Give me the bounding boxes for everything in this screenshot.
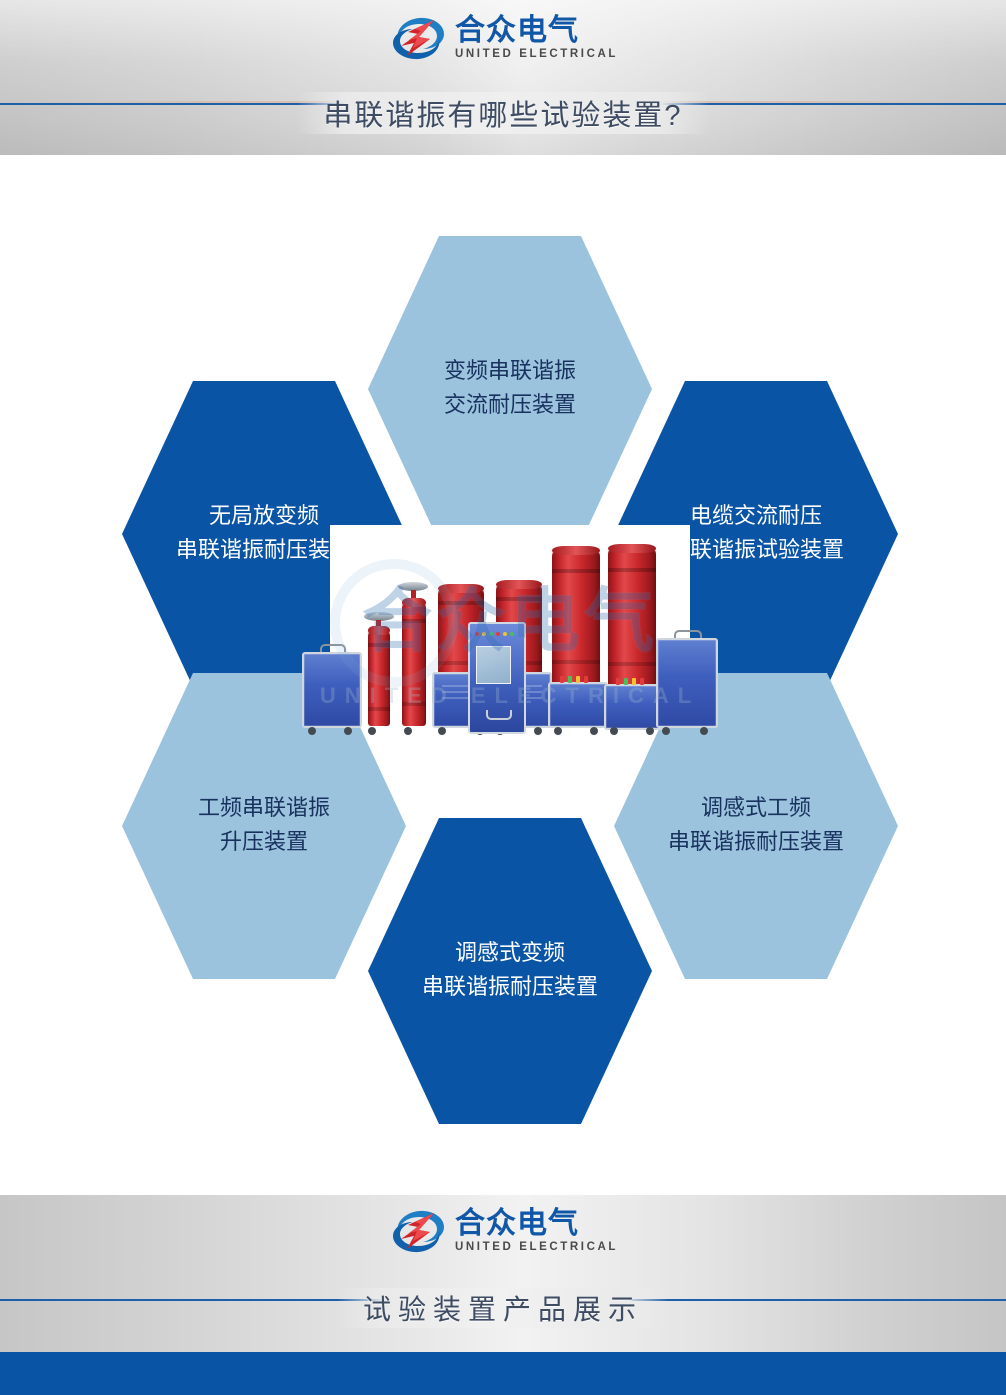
brand-name-en: UNITED ELECTRICAL bbox=[455, 49, 618, 61]
caster-wheel-icon bbox=[662, 727, 670, 735]
hexagon-diagram: 变频串联谐振 交流耐压装置 无局放变频 串联谐振耐压装置 电缆交流耐压 串联谐振… bbox=[0, 155, 1006, 1195]
reactor-body bbox=[402, 602, 426, 726]
caster-wheel-icon bbox=[554, 727, 562, 735]
equipment-control-console bbox=[468, 622, 522, 730]
caster-wheel-icon bbox=[404, 727, 412, 735]
indicator-leds bbox=[475, 632, 514, 636]
brand-logo-header[interactable]: 合众电气 UNITED ELECTRICAL bbox=[390, 12, 618, 64]
console-handle-icon bbox=[486, 710, 512, 720]
reactor-trolley bbox=[604, 684, 664, 730]
console-body bbox=[468, 622, 526, 734]
caster-wheel-icon bbox=[344, 727, 352, 735]
terminal-strip bbox=[560, 676, 588, 683]
brand-name-cn: 合众电气 bbox=[455, 16, 618, 46]
brand-name-cn: 合众电气 bbox=[455, 1209, 618, 1239]
brand-wordmark: 合众电气 UNITED ELECTRICAL bbox=[455, 1209, 618, 1254]
equipment-case-1 bbox=[302, 652, 358, 730]
footer-title-text: 试验装置产品展示 bbox=[337, 1288, 669, 1328]
page-footer: 合众电气 UNITED ELECTRICAL 试验装置产品展示 bbox=[0, 1195, 1006, 1352]
reactor-cap bbox=[438, 584, 484, 593]
reactor-body bbox=[552, 550, 600, 686]
footer-title: 试验装置产品展示 bbox=[0, 1288, 1006, 1328]
equipment-reactor-tall-2 bbox=[604, 548, 660, 730]
equipment-reactor-2 bbox=[396, 582, 432, 730]
hexagon-bottom-line1: 调感式变频 bbox=[455, 937, 565, 971]
reactor-cap bbox=[608, 544, 656, 553]
caster-wheel-icon bbox=[590, 727, 598, 735]
caster-wheel-icon bbox=[368, 727, 376, 735]
caster-wheel-icon bbox=[438, 727, 446, 735]
hexagon-lower-right-line1: 调感式工频 bbox=[701, 792, 811, 826]
case-body bbox=[656, 638, 718, 728]
brand-wordmark: 合众电气 UNITED ELECTRICAL bbox=[455, 16, 618, 61]
lightning-swoosh-logo-icon bbox=[390, 1205, 446, 1257]
equipment-case-2 bbox=[656, 638, 714, 730]
hexagon-lower-left-line2: 升压装置 bbox=[220, 826, 308, 860]
caster-wheel-icon bbox=[610, 727, 618, 735]
reactor-body bbox=[368, 630, 390, 726]
case-body bbox=[302, 652, 362, 728]
equipment-reactor-1 bbox=[362, 612, 396, 730]
page-title-text: 串联谐振有哪些试验装置? bbox=[297, 92, 708, 134]
brand-name-en: UNITED ELECTRICAL bbox=[455, 1242, 618, 1254]
reactor-trolley bbox=[548, 682, 608, 728]
hexagon-lower-left-line1: 工频串联谐振 bbox=[198, 792, 330, 826]
brand-logo-footer[interactable]: 合众电气 UNITED ELECTRICAL bbox=[390, 1205, 618, 1257]
reactor-cap bbox=[402, 598, 426, 607]
hexagon-top-line1: 变频串联谐振 bbox=[444, 355, 576, 389]
reactor-cap bbox=[552, 546, 600, 555]
caster-wheel-icon bbox=[308, 727, 316, 735]
reactor-body bbox=[608, 548, 656, 688]
hexagon-item-bottom[interactable]: 调感式变频 串联谐振耐压装置 bbox=[368, 818, 652, 1124]
reactor-cap bbox=[368, 626, 390, 635]
hexagon-upper-right-line1: 电缆交流耐压 bbox=[690, 500, 822, 534]
lightning-swoosh-logo-icon bbox=[390, 12, 446, 64]
product-photo bbox=[300, 530, 720, 730]
reactor-cap bbox=[496, 580, 542, 589]
terminal-strip bbox=[616, 678, 644, 685]
hexagon-bottom-line2: 串联谐振耐压装置 bbox=[422, 971, 598, 1005]
hexagon-top-line2: 交流耐压装置 bbox=[444, 389, 576, 423]
page-title: 串联谐振有哪些试验装置? bbox=[0, 92, 1006, 134]
bottom-accent-bar bbox=[0, 1352, 1006, 1395]
console-display bbox=[476, 646, 510, 685]
caster-wheel-icon bbox=[700, 727, 708, 735]
hexagon-item-top[interactable]: 变频串联谐振 交流耐压装置 bbox=[368, 236, 652, 542]
hexagon-upper-left-line1: 无局放变频 bbox=[209, 500, 319, 534]
page-header: 合众电气 UNITED ELECTRICAL 串联谐振有哪些试验装置? bbox=[0, 0, 1006, 155]
hexagon-lower-right-line2: 串联谐振耐压装置 bbox=[668, 826, 844, 860]
caster-wheel-icon bbox=[534, 727, 542, 735]
equipment-reactor-tall-1 bbox=[548, 550, 604, 730]
caster-wheel-icon bbox=[646, 727, 654, 735]
